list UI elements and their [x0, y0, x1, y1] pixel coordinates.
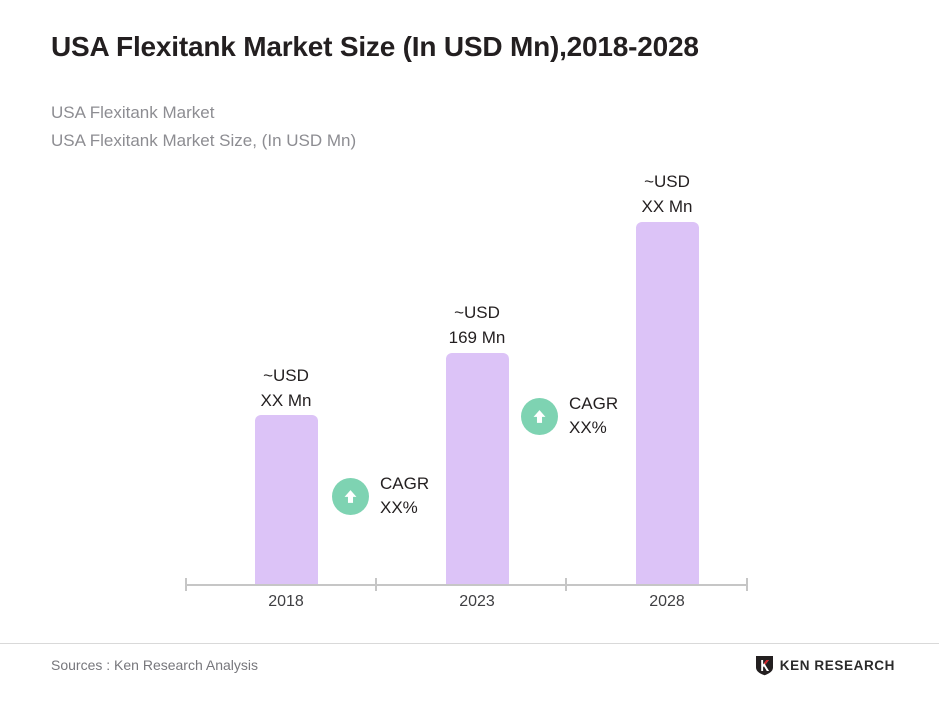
- x-axis-tick-end: [746, 578, 748, 591]
- logo-wordmark: KEN RESEARCH: [780, 658, 895, 673]
- footer-divider: [0, 643, 939, 644]
- bar-label-2023: ~USD 169 Mn: [417, 301, 537, 350]
- x-axis-line: [185, 584, 748, 586]
- cagr-annotation-1-text: CAGR XX%: [380, 472, 429, 520]
- bar-chart-plot-area: ~USD XX Mn ~USD 169 Mn ~USD XX Mn CAGR X…: [0, 0, 939, 704]
- cagr-annotation-1-line2: XX%: [380, 496, 429, 520]
- x-axis-tick-start: [185, 578, 187, 591]
- source-note: Sources : Ken Research Analysis: [51, 657, 258, 673]
- x-axis-tick-2: [565, 578, 567, 591]
- bar-label-2018-line2: XX Mn: [226, 389, 346, 414]
- bar-label-2018: ~USD XX Mn: [226, 364, 346, 413]
- x-axis-label-2028: 2028: [607, 593, 727, 611]
- cagr-annotation-2-text: CAGR XX%: [569, 392, 618, 440]
- ken-research-logo: KEN RESEARCH: [755, 655, 895, 676]
- bar-label-2018-line1: ~USD: [226, 364, 346, 389]
- x-axis-label-2023: 2023: [417, 593, 537, 611]
- cagr-annotation-2018-2023: CAGR XX%: [332, 472, 429, 520]
- cagr-annotation-2023-2028: CAGR XX%: [521, 392, 618, 440]
- bar-label-2028: ~USD XX Mn: [607, 170, 727, 219]
- x-axis-label-2018: 2018: [226, 593, 346, 611]
- bar-2028: [636, 222, 699, 584]
- cagr-annotation-2-line2: XX%: [569, 416, 618, 440]
- bar-label-2023-line2: 169 Mn: [417, 326, 537, 351]
- bar-2018: [255, 415, 318, 584]
- bar-label-2028-line1: ~USD: [607, 170, 727, 195]
- arrow-up-icon: [332, 478, 369, 515]
- arrow-up-icon: [521, 398, 558, 435]
- x-axis-tick-1: [375, 578, 377, 591]
- cagr-annotation-2-line1: CAGR: [569, 392, 618, 416]
- bar-label-2023-line1: ~USD: [417, 301, 537, 326]
- chart-slide: USA Flexitank Market Size (In USD Mn),20…: [0, 0, 939, 704]
- cagr-annotation-1-line1: CAGR: [380, 472, 429, 496]
- bar-label-2028-line2: XX Mn: [607, 195, 727, 220]
- bar-2023: [446, 353, 509, 584]
- shield-logo-icon: [755, 655, 774, 676]
